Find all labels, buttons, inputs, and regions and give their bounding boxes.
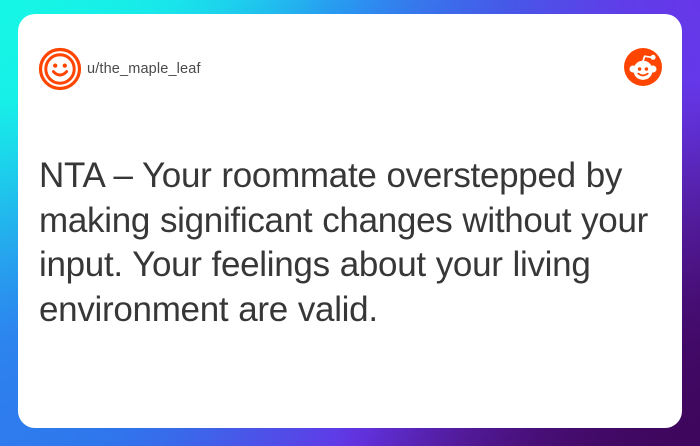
screenshot-canvas: u/the_maple_leaf NTA – Your roommate ove… [0, 0, 700, 446]
username-label: u/the_maple_leaf [87, 61, 201, 77]
post-body-text: NTA – Your roommate overstepped by makin… [39, 154, 662, 332]
reddit-snoo-icon [624, 48, 662, 86]
reddit-post-card: u/the_maple_leaf NTA – Your roommate ove… [18, 14, 682, 428]
smiley-face-avatar-icon [38, 47, 82, 91]
post-header: u/the_maple_leaf [18, 14, 682, 106]
